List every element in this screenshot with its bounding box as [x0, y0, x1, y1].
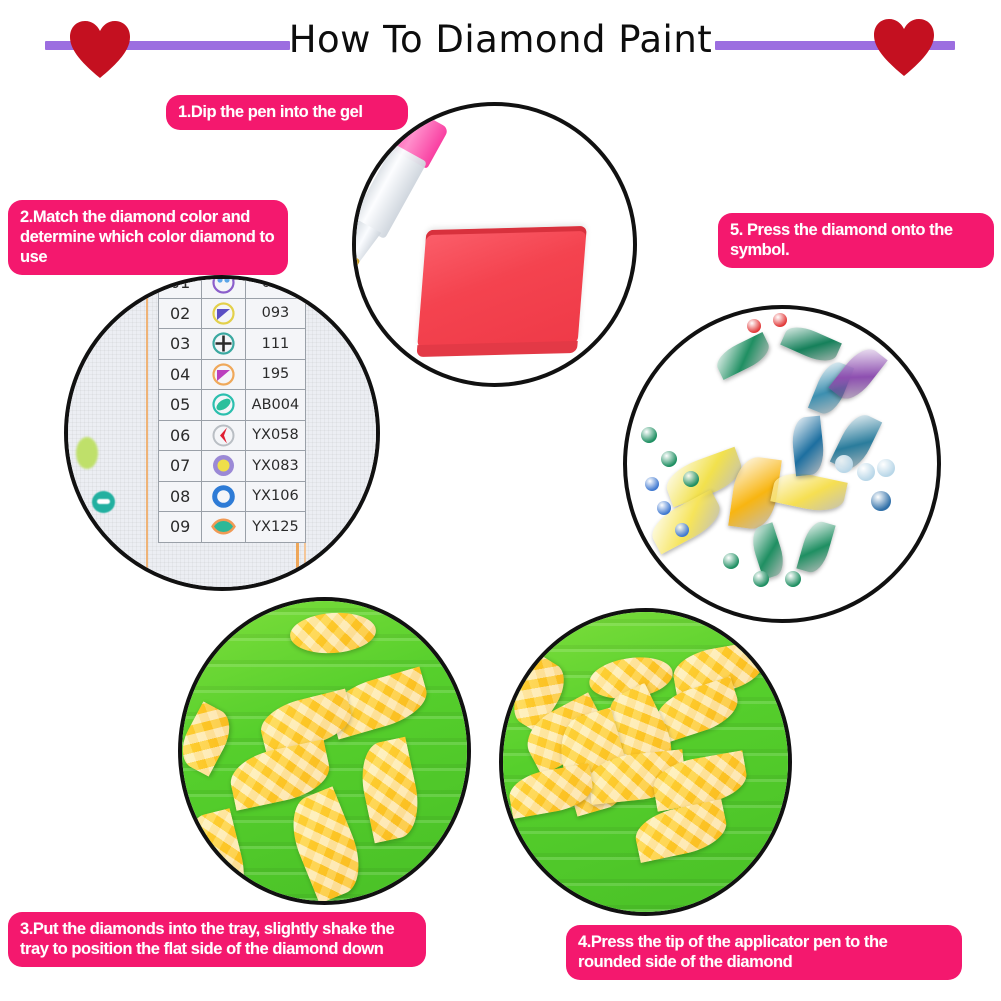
chart-number-cell: 05: [159, 390, 202, 421]
canvas-paint-blob: [76, 437, 98, 469]
table-row: 04195: [159, 359, 306, 390]
diamonds-in-tray-photo: [178, 597, 471, 905]
step-4-label: 4.Press the tip of the applicator pen to…: [566, 925, 962, 980]
infographic-page: How To Diamond Paint 1.Dip the pen into …: [0, 0, 1001, 1001]
placed-round-gem: [675, 523, 689, 537]
triangle-symbol: [211, 362, 236, 387]
double-dot-circle-symbol: [211, 275, 236, 295]
ring-symbol: [211, 484, 236, 509]
leaf-symbol: [211, 514, 236, 539]
placed-round-gem: [723, 553, 739, 569]
placed-round-gem: [645, 477, 659, 491]
table-row: 01028: [159, 275, 306, 298]
plus-symbol: [211, 331, 236, 356]
placed-diamond-gem: [790, 416, 826, 477]
chart-symbol-cell: [202, 329, 246, 360]
chart-code-cell: 028: [245, 275, 305, 298]
step-2-label: 2.Match the diamond color and determine …: [8, 200, 288, 275]
chart-symbol-cell: [202, 390, 246, 421]
placed-round-gem: [773, 313, 787, 327]
step-3-label: 3.Put the diamonds into the tray, slight…: [8, 912, 426, 967]
pen-picking-up-diamond-photo: [499, 608, 792, 916]
chart-number-cell: 02: [159, 298, 202, 329]
placed-round-gem: [753, 571, 769, 587]
placed-diamond-gem: [748, 522, 789, 579]
chart-code-cell: YX058: [245, 420, 305, 451]
chart-symbol-cell: [202, 298, 246, 329]
step-5-label: 5. Press the diamond onto the symbol.: [718, 213, 994, 268]
table-row: 06YX058: [159, 420, 306, 451]
step-1-label: 1.Dip the pen into the gel: [166, 95, 408, 130]
chart-symbol-cell: [202, 481, 246, 512]
table-row: 09YX125: [159, 512, 306, 543]
chart-code-cell: 093: [245, 298, 305, 329]
placed-round-gem: [857, 463, 875, 481]
placed-round-gem: [877, 459, 895, 477]
color-chart-table: 0102802093031110419505AB00406YX05807YX08…: [158, 275, 306, 543]
placed-diamond-gem: [780, 321, 842, 368]
chart-number-cell: 07: [159, 451, 202, 482]
red-gel-pad: [417, 226, 587, 348]
placed-round-gem: [641, 427, 657, 443]
pressing-diamond-onto-canvas-photo: [623, 305, 941, 623]
chart-symbol-cell: [202, 359, 246, 390]
chart-symbol-cell: [202, 420, 246, 451]
table-row: 07YX083: [159, 451, 306, 482]
placed-round-gem: [871, 491, 891, 511]
table-row: 05AB004: [159, 390, 306, 421]
placed-round-gem: [661, 451, 677, 467]
canvas-symbol-blob: [92, 491, 115, 513]
canvas-guide-line: [146, 279, 148, 587]
chart-number-cell: 08: [159, 481, 202, 512]
chart-symbol-cell: [202, 451, 246, 482]
triangle-symbol: [211, 301, 236, 326]
diamond-color-chart-photo: 0102802093031110419505AB00406YX05807YX08…: [64, 275, 380, 591]
chevron-left-symbol: [211, 423, 236, 448]
page-title: How To Diamond Paint: [0, 18, 1001, 62]
table-row: 03111: [159, 329, 306, 360]
table-row: 02093: [159, 298, 306, 329]
chart-number-cell: 04: [159, 359, 202, 390]
table-row: 08YX106: [159, 481, 306, 512]
chart-symbol-cell: [202, 512, 246, 543]
chart-number-cell: 09: [159, 512, 202, 543]
chart-number-cell: 06: [159, 420, 202, 451]
placed-round-gem: [657, 501, 671, 515]
chart-code-cell: YX083: [245, 451, 305, 482]
header-banner: How To Diamond Paint: [0, 0, 1001, 88]
slash-oval-symbol: [211, 392, 236, 417]
placed-diamond-gem: [712, 332, 774, 380]
placed-diamond-gem: [770, 468, 847, 516]
chart-code-cell: 195: [245, 359, 305, 390]
placed-round-gem: [683, 471, 699, 487]
placed-round-gem: [785, 571, 801, 587]
pen-dipping-into-gel-photo: [352, 102, 637, 387]
chart-number-cell: 01: [159, 275, 202, 298]
chart-code-cell: YX125: [245, 512, 305, 543]
placed-gems-group: [627, 309, 937, 619]
chart-code-cell: 111: [245, 329, 305, 360]
placed-diamond-gem: [796, 518, 835, 575]
dot-in-ring-symbol: [211, 453, 236, 478]
chart-symbol-cell: [202, 275, 246, 298]
chart-code-cell: AB004: [245, 390, 305, 421]
chart-code-cell: YX106: [245, 481, 305, 512]
placed-round-gem: [747, 319, 761, 333]
chart-number-cell: 03: [159, 329, 202, 360]
placed-round-gem: [835, 455, 853, 473]
